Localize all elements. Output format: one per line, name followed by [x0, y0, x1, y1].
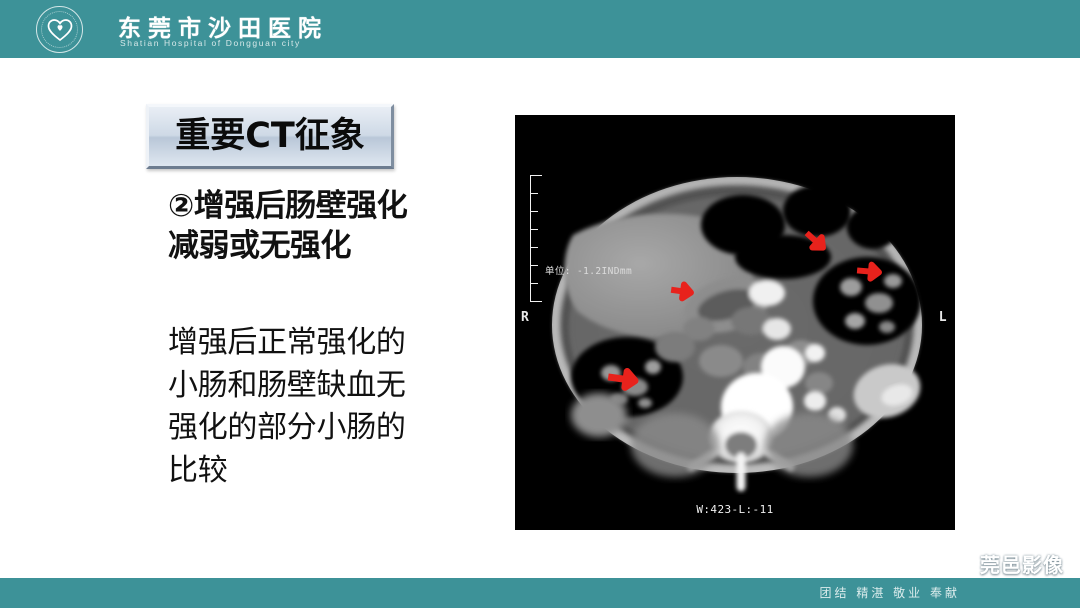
- content-paragraph-secondary: 增强后正常强化的 小肠和肠壁缺血无 强化的部分小肠的 比较: [168, 322, 488, 492]
- wechat-watermark: 莞邑影像: [942, 549, 1064, 578]
- ct-window-level-label: W:423-L:-11: [696, 503, 773, 516]
- presentation-slide: 东莞市沙田医院 Shatian Hospital of Dongguan cit…: [0, 0, 1080, 608]
- ct-orientation-marker-right: R: [521, 310, 529, 325]
- ct-orientation-marker-left: L: [939, 310, 947, 325]
- ct-scan-image: 单位: -1.2INDmm R L W:423-L:-11: [515, 115, 955, 530]
- content-paragraph-primary: ②增强后肠壁强化 减弱或无强化: [168, 186, 488, 267]
- hospital-logo-icon: [36, 6, 83, 53]
- wechat-icon: [942, 551, 972, 577]
- footer-motto: 团结 精湛 敬业 奉献: [820, 584, 960, 601]
- watermark-label: 莞邑影像: [980, 549, 1064, 578]
- hospital-name-en: Shatian Hospital of Dongguan city: [120, 38, 301, 48]
- ct-scan-canvas: [515, 115, 955, 530]
- ct-scale-label: 单位: -1.2INDmm: [545, 263, 632, 277]
- heart-hands-logo-icon: [47, 18, 73, 42]
- page-title: 重要CT征象: [175, 119, 365, 154]
- slide-footer-bar: 团结 精湛 敬业 奉献: [0, 578, 1080, 608]
- slide-header-bar: 东莞市沙田医院 Shatian Hospital of Dongguan cit…: [0, 0, 1080, 58]
- ct-scale-ruler-icon: [530, 175, 542, 302]
- slide-title-box: 重要CT征象: [146, 104, 394, 169]
